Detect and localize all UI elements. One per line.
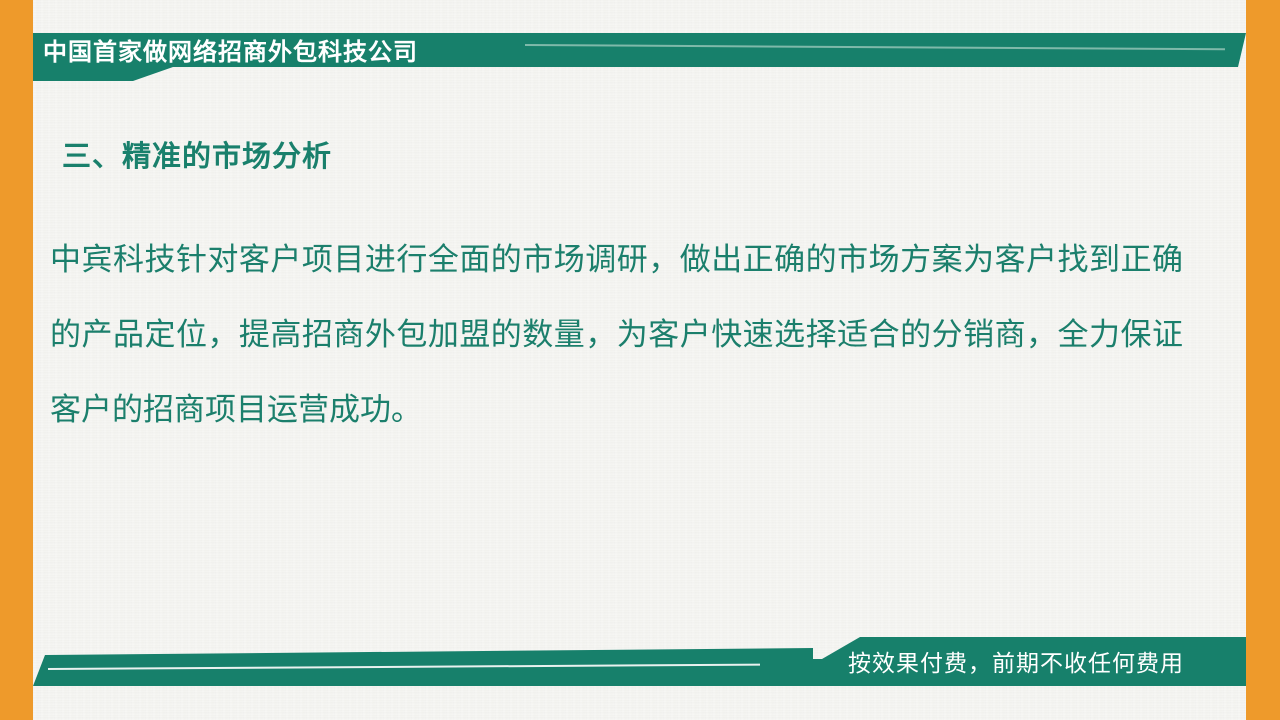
- section-paragraph: 中宾科技针对客户项目进行全面的市场调研，做出正确的市场方案为客户找到正确的产品定…: [50, 222, 1183, 447]
- slide-root: 中国首家做网络招商外包科技公司 三、精准的市场分析 中宾科技针对客户项目进行全面…: [0, 0, 1280, 720]
- footer-tagline: 按效果付费，前期不收任何费用: [848, 646, 1184, 680]
- header-company-title: 中国首家做网络招商外包科技公司: [43, 36, 418, 70]
- section-heading: 三、精准的市场分析: [62, 137, 332, 177]
